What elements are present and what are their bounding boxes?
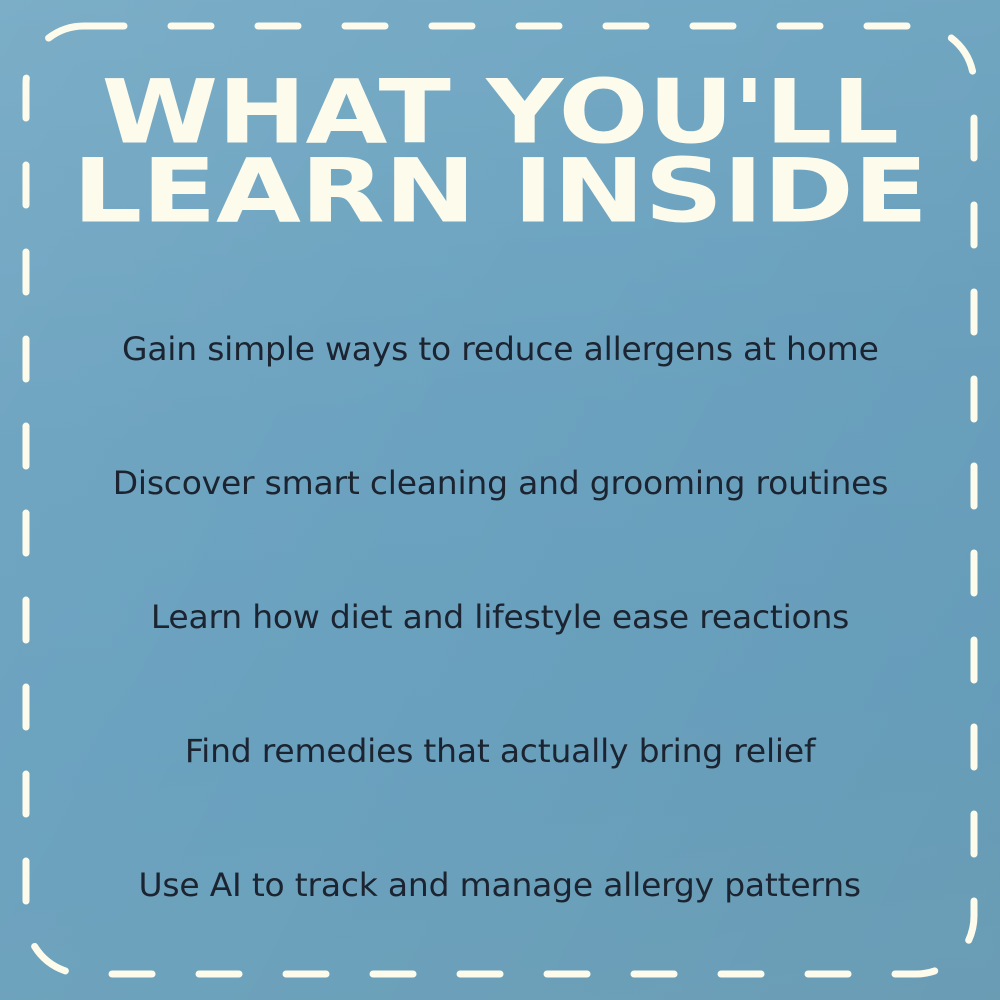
- page-title: WHAT YOU'LL LEARN INSIDE: [0, 74, 1000, 222]
- list-item-label: Learn how diet and lifestyle ease reacti…: [151, 600, 849, 635]
- list-item-label: Find remedies that actually bring relief: [185, 734, 816, 769]
- list-item-label: Use AI to track and manage allergy patte…: [139, 868, 861, 903]
- page-title-line-2: LEARN INSIDE: [0, 153, 1000, 230]
- list-item: Find remedies that actually bring relief: [0, 685, 1000, 819]
- list-item-label: Discover smart cleaning and grooming rou…: [112, 466, 887, 501]
- list-item: Gain simple ways to reduce allergens at …: [0, 283, 1000, 417]
- list-item: Use AI to track and manage allergy patte…: [0, 819, 1000, 953]
- poster-canvas: WHAT YOU'LL LEARN INSIDE Gain simple way…: [0, 0, 1000, 1000]
- list-item-label: Gain simple ways to reduce allergens at …: [122, 332, 879, 367]
- learning-points-list: Gain simple ways to reduce allergens at …: [0, 283, 1000, 953]
- list-item: Discover smart cleaning and grooming rou…: [0, 417, 1000, 551]
- list-item: Learn how diet and lifestyle ease reacti…: [0, 551, 1000, 685]
